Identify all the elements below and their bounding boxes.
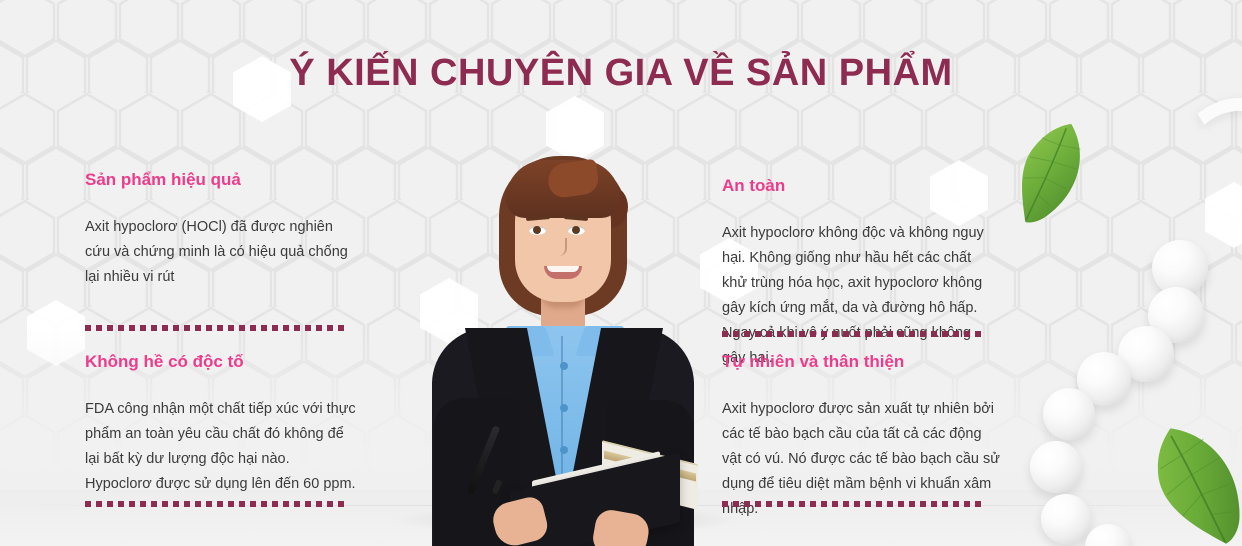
block-heading-an-toan: An toàn — [722, 176, 990, 196]
block-body-san-pham-hieu-qua: Axit hypoclorơ (HOCl) đã được nghiên cứu… — [85, 215, 351, 290]
iris-right — [572, 226, 580, 234]
pearl-bead — [1041, 494, 1091, 544]
expert-opinion-section: Ý KIẾN CHUYÊN GIA VỀ SẢN PHẨM Sản phẩm h… — [0, 0, 1242, 546]
right-column-2: Tự nhiên và thân thiện Axit hypoclorơ đư… — [722, 352, 1002, 522]
block-heading-san-pham-hieu-qua: Sản phẩm hiệu quả — [85, 170, 351, 190]
left-column-2: Không hề có độc tố FDA công nhận một chấ… — [85, 352, 357, 497]
divider-right-2 — [722, 501, 982, 507]
teeth — [547, 266, 579, 272]
left-column: Sản phẩm hiệu quả Axit hypoclorơ (HOCl) … — [85, 170, 351, 290]
pearl-bead — [1030, 441, 1082, 493]
block-heading-khong-he-co-doc-to: Không hề có độc tố — [85, 352, 357, 372]
divider-right-1 — [722, 331, 982, 337]
shirt-button — [560, 404, 568, 412]
pearl-bead — [1043, 388, 1095, 440]
iris-left — [533, 226, 541, 234]
right-column: An toàn Axit hypoclorơ không độc và khôn… — [722, 176, 990, 371]
page-title: Ý KIẾN CHUYÊN GIA VỀ SẢN PHẨM — [0, 52, 1242, 95]
divider-left-2 — [85, 501, 349, 507]
expert-photo — [398, 150, 728, 546]
shirt-button — [560, 362, 568, 370]
block-heading-tu-nhien-va-than-thien: Tự nhiên và thân thiện — [722, 352, 1002, 372]
block-body-khong-he-co-doc-to: FDA công nhận một chất tiếp xúc với thực… — [85, 397, 357, 497]
divider-left-1 — [85, 325, 349, 331]
block-body-an-toan: Axit hypoclorơ không độc và không nguy h… — [722, 221, 990, 371]
